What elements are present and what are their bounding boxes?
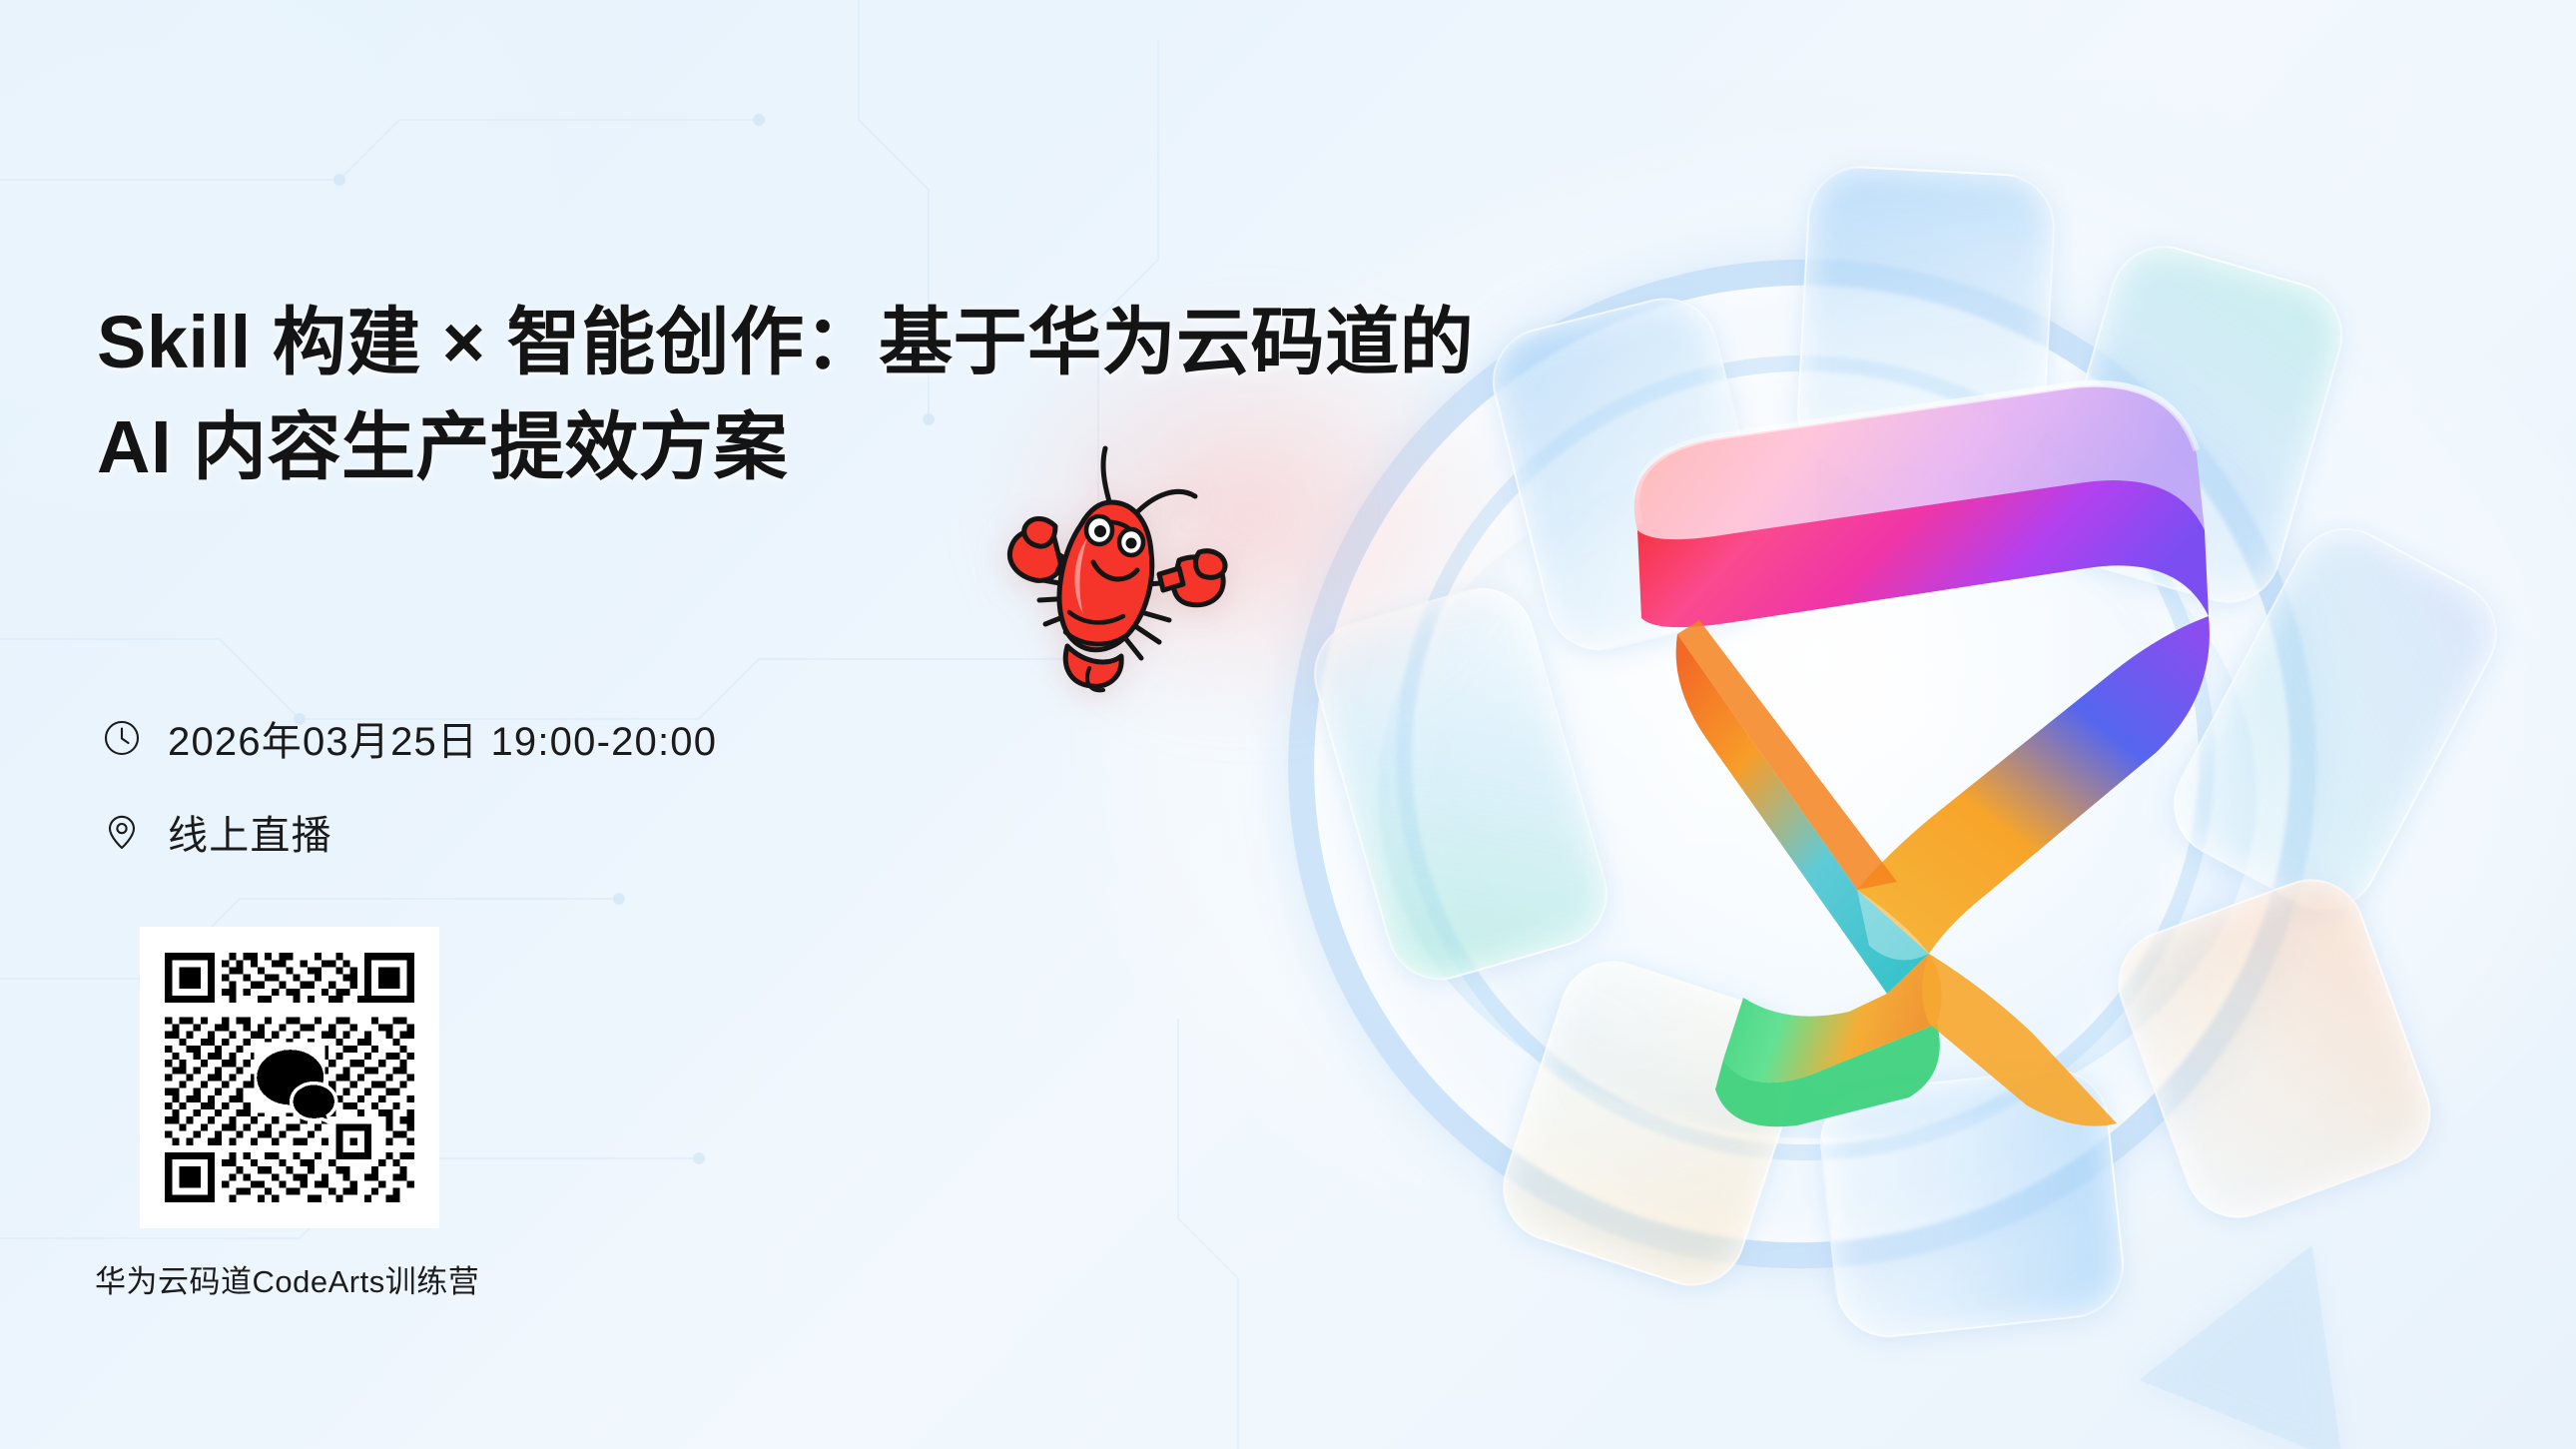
wechat-bubble-icon — [254, 1042, 335, 1122]
clock-icon — [100, 716, 144, 760]
title-line-1: Skill 构建 × 智能创作：基于华为云码道的 — [97, 290, 1215, 394]
rainbow-ribbon — [1558, 335, 2276, 1133]
location-pin-icon — [100, 810, 144, 854]
qr-block: 华为云码道CodeArts训练营 — [140, 927, 454, 1301]
qr-code[interactable] — [140, 927, 439, 1228]
event-location-row: 线上直播 — [100, 803, 717, 861]
lobster-mascot — [983, 434, 1243, 699]
content-column: Skill 构建 × 智能创作：基于华为云码道的 AI 内容生产提效方案 202… — [0, 0, 1298, 1449]
event-datetime-row: 2026年03月25日 19:00-20:00 — [100, 709, 717, 767]
promo-banner: Skill 构建 × 智能创作：基于华为云码道的 AI 内容生产提效方案 202… — [0, 0, 2576, 1449]
event-location-text: 线上直播 — [168, 803, 332, 861]
qr-caption: 华为云码道CodeArts训练营 — [95, 1256, 454, 1301]
qr-code-svg — [158, 945, 421, 1210]
event-meta: 2026年03月25日 19:00-20:00 线上直播 — [100, 709, 717, 897]
event-datetime-text: 2026年03月25日 19:00-20:00 — [168, 709, 717, 767]
